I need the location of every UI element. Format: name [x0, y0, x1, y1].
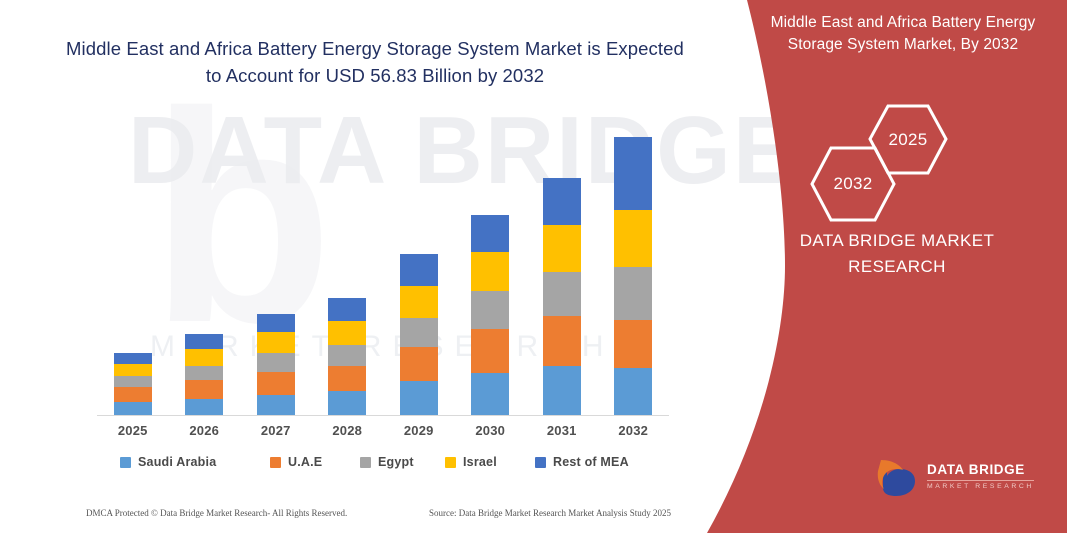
- bar-segment-israel-2030: [471, 252, 509, 291]
- footer-source: Source: Data Bridge Market Research Mark…: [429, 508, 671, 518]
- logo-wordmark: DATA BRIDGE MARKET RESEARCH: [927, 463, 1034, 493]
- x-tick-2028: 2028: [311, 423, 383, 438]
- bar-segment-israel-2025: [114, 364, 152, 376]
- bar-segment-u-a-e-2025: [114, 387, 152, 402]
- bar-2029: [400, 254, 438, 416]
- chart-panel: b DATA BRIDGE MARKET RESEARCH Middle Eas…: [0, 0, 760, 533]
- bar-segment-egypt-2025: [114, 376, 152, 387]
- bar-chart-plot: [97, 110, 669, 416]
- bar-segment-israel-2032: [614, 210, 652, 267]
- x-tick-2031: 2031: [526, 423, 598, 438]
- bar-segment-israel-2031: [543, 225, 581, 272]
- legend-item-israel[interactable]: Israel: [445, 455, 497, 469]
- bar-segment-rest-of-mea-2025: [114, 353, 152, 364]
- logo-b-mark-icon: [877, 458, 921, 498]
- bar-2032: [614, 137, 652, 416]
- bar-segment-israel-2028: [328, 321, 366, 345]
- bar-segment-u-a-e-2028: [328, 366, 366, 391]
- legend-label-saudi-arabia: Saudi Arabia: [138, 455, 216, 469]
- chart-title: Middle East and Africa Battery Energy St…: [60, 36, 690, 90]
- bar-2026: [185, 334, 223, 416]
- x-tick-2030: 2030: [454, 423, 526, 438]
- bar-segment-saudi-arabia-2030: [471, 373, 509, 416]
- panel-title: Middle East and Africa Battery Energy St…: [753, 12, 1053, 55]
- bar-segment-egypt-2026: [185, 366, 223, 380]
- bar-segment-rest-of-mea-2029: [400, 254, 438, 286]
- x-tick-2032: 2032: [597, 423, 669, 438]
- bar-segment-rest-of-mea-2030: [471, 215, 509, 252]
- x-tick-2026: 2026: [168, 423, 240, 438]
- bar-segment-egypt-2027: [257, 353, 295, 372]
- bar-segment-rest-of-mea-2032: [614, 137, 652, 210]
- legend-label-u-a-e: U.A.E: [288, 455, 322, 469]
- legend-item-rest-of-mea[interactable]: Rest of MEA: [535, 455, 629, 469]
- bar-2025: [114, 353, 152, 416]
- legend-item-egypt[interactable]: Egypt: [360, 455, 414, 469]
- bar-segment-u-a-e-2032: [614, 320, 652, 368]
- bar-segment-egypt-2030: [471, 291, 509, 329]
- brand-panel: Middle East and Africa Battery Energy St…: [707, 0, 1067, 533]
- hexagon-2025: 2025: [867, 103, 949, 176]
- bar-segment-egypt-2028: [328, 345, 366, 366]
- bar-segment-israel-2026: [185, 349, 223, 366]
- x-axis-tick-labels: 20252026202720282029203020312032: [97, 423, 669, 447]
- bar-segment-israel-2029: [400, 286, 438, 318]
- x-tick-2027: 2027: [240, 423, 312, 438]
- bar-segment-saudi-arabia-2027: [257, 395, 295, 416]
- bar-2028: [328, 298, 366, 416]
- bar-segment-saudi-arabia-2031: [543, 366, 581, 416]
- data-bridge-logo: DATA BRIDGE MARKET RESEARCH: [877, 455, 1047, 501]
- brand-name: DATA BRIDGE MARKET RESEARCH: [767, 228, 1027, 279]
- logo-divider: [927, 480, 1034, 481]
- chart-legend: Saudi ArabiaU.A.EEgyptIsraelRest of MEA: [120, 455, 660, 477]
- bar-segment-rest-of-mea-2027: [257, 314, 295, 332]
- bar-segment-rest-of-mea-2031: [543, 178, 581, 225]
- bar-segment-israel-2027: [257, 332, 295, 353]
- bar-2027: [257, 314, 295, 416]
- footer-copyright: DMCA Protected © Data Bridge Market Rese…: [86, 508, 347, 518]
- bar-segment-rest-of-mea-2026: [185, 334, 223, 349]
- bar-segment-egypt-2031: [543, 272, 581, 316]
- infographic-root: b DATA BRIDGE MARKET RESEARCH Middle Eas…: [0, 0, 1067, 533]
- x-axis-baseline: [97, 415, 669, 416]
- bar-segment-saudi-arabia-2025: [114, 402, 152, 416]
- legend-label-egypt: Egypt: [378, 455, 414, 469]
- legend-item-u-a-e[interactable]: U.A.E: [270, 455, 322, 469]
- legend-swatch-egypt: [360, 457, 371, 468]
- logo-title: DATA BRIDGE: [927, 463, 1034, 478]
- bar-segment-u-a-e-2031: [543, 316, 581, 366]
- hexagon-2032-label: 2032: [833, 174, 872, 194]
- bar-segment-u-a-e-2030: [471, 329, 509, 373]
- bar-segment-saudi-arabia-2032: [614, 368, 652, 416]
- legend-label-israel: Israel: [463, 455, 497, 469]
- bar-segment-saudi-arabia-2026: [185, 399, 223, 416]
- x-tick-2025: 2025: [97, 423, 169, 438]
- bar-segment-egypt-2029: [400, 318, 438, 347]
- legend-label-rest-of-mea: Rest of MEA: [553, 455, 629, 469]
- legend-swatch-saudi-arabia: [120, 457, 131, 468]
- bar-segment-rest-of-mea-2028: [328, 298, 366, 321]
- x-tick-2029: 2029: [383, 423, 455, 438]
- bar-segment-u-a-e-2027: [257, 372, 295, 395]
- logo-subtitle: MARKET RESEARCH: [927, 482, 1034, 493]
- bar-segment-saudi-arabia-2028: [328, 391, 366, 416]
- bar-2031: [543, 178, 581, 416]
- bar-segment-saudi-arabia-2029: [400, 381, 438, 416]
- bar-segment-egypt-2032: [614, 267, 652, 320]
- legend-swatch-u-a-e: [270, 457, 281, 468]
- hexagon-2025-label: 2025: [888, 130, 927, 150]
- legend-swatch-israel: [445, 457, 456, 468]
- legend-item-saudi-arabia[interactable]: Saudi Arabia: [120, 455, 216, 469]
- footer: DMCA Protected © Data Bridge Market Rese…: [86, 508, 686, 524]
- legend-swatch-rest-of-mea: [535, 457, 546, 468]
- bar-segment-u-a-e-2029: [400, 347, 438, 381]
- bar-2030: [471, 215, 509, 416]
- bar-segment-u-a-e-2026: [185, 380, 223, 399]
